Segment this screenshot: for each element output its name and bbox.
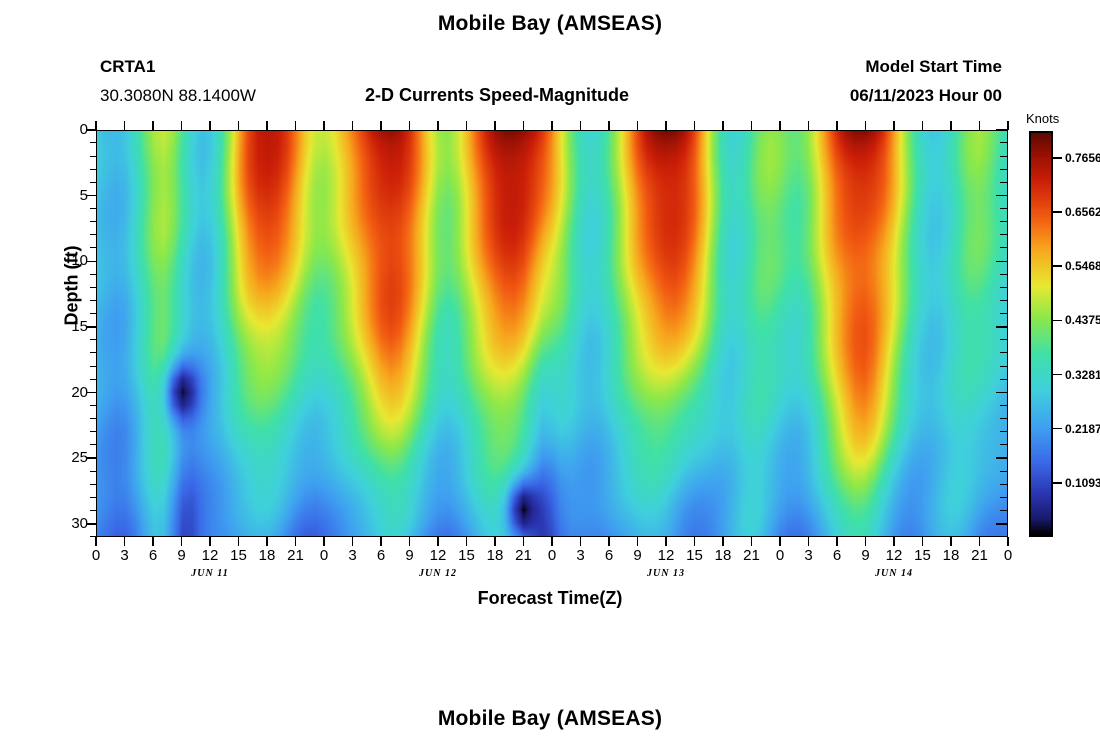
colorbar-tick bbox=[1053, 211, 1062, 213]
y-tick-right-minor bbox=[1000, 156, 1008, 157]
y-tick-right-minor bbox=[1000, 274, 1008, 275]
y-tick-right-minor bbox=[1000, 234, 1008, 235]
x-tick-top bbox=[922, 121, 924, 130]
x-tick-top bbox=[152, 121, 154, 130]
y-tick-right-major bbox=[996, 261, 1008, 263]
x-tick bbox=[922, 537, 924, 546]
y-tick-right-major bbox=[996, 129, 1008, 131]
x-tick-top bbox=[637, 121, 639, 130]
x-tick bbox=[323, 537, 325, 546]
y-tick-label: 10 bbox=[48, 253, 88, 268]
x-tick bbox=[808, 537, 810, 546]
x-tick-top bbox=[352, 121, 354, 130]
y-axis-title: Depth (ft) bbox=[62, 206, 83, 366]
x-tick-top bbox=[380, 121, 382, 130]
y-tick-right-minor bbox=[1000, 418, 1008, 419]
x-tick-label: 3 bbox=[794, 548, 824, 563]
x-tick bbox=[665, 537, 667, 546]
x-tick bbox=[494, 537, 496, 546]
x-tick bbox=[1007, 537, 1009, 546]
y-tick-right-major bbox=[996, 392, 1008, 394]
x-tick-top bbox=[722, 121, 724, 130]
x-tick bbox=[295, 537, 297, 546]
x-tick-top bbox=[95, 121, 97, 130]
y-tick-minor bbox=[90, 300, 96, 301]
x-tick-label: 12 bbox=[651, 548, 681, 563]
colorbar-tick-label: 0.1093750 bbox=[1065, 477, 1100, 489]
x-tick-label: 9 bbox=[623, 548, 653, 563]
x-tick-top bbox=[1007, 121, 1009, 130]
x-tick bbox=[266, 537, 268, 546]
x-axis-title: Forecast Time(Z) bbox=[0, 588, 1100, 609]
x-tick-label: 18 bbox=[936, 548, 966, 563]
x-tick bbox=[380, 537, 382, 546]
y-tick-right-minor bbox=[1000, 313, 1008, 314]
x-tick bbox=[523, 537, 525, 546]
x-tick-label: 18 bbox=[480, 548, 510, 563]
y-tick-right-minor bbox=[1000, 247, 1008, 248]
colorbar-tick-label: 0.4375000 bbox=[1065, 314, 1100, 326]
x-tick-top bbox=[266, 121, 268, 130]
colorbar-tick bbox=[1053, 482, 1062, 484]
x-tick-top bbox=[836, 121, 838, 130]
x-tick-label: 12 bbox=[195, 548, 225, 563]
x-tick bbox=[181, 537, 183, 546]
y-tick-minor bbox=[90, 208, 96, 209]
x-tick-top bbox=[779, 121, 781, 130]
y-tick-right-minor bbox=[1000, 510, 1008, 511]
y-tick-right-minor bbox=[1000, 208, 1008, 209]
x-tick-top bbox=[124, 121, 126, 130]
y-tick-right-minor bbox=[1000, 221, 1008, 222]
x-tick-top bbox=[865, 121, 867, 130]
x-tick-top bbox=[694, 121, 696, 130]
x-tick-label: 3 bbox=[566, 548, 596, 563]
x-tick bbox=[95, 537, 97, 546]
x-tick-top bbox=[323, 121, 325, 130]
y-tick-minor bbox=[90, 169, 96, 170]
y-tick-label: 20 bbox=[48, 385, 88, 400]
y-tick-minor bbox=[90, 431, 96, 432]
x-tick bbox=[152, 537, 154, 546]
x-tick-top bbox=[295, 121, 297, 130]
x-tick bbox=[608, 537, 610, 546]
x-tick-label: 9 bbox=[167, 548, 197, 563]
x-tick-label: 9 bbox=[395, 548, 425, 563]
x-tick-top bbox=[665, 121, 667, 130]
y-tick-right-minor bbox=[1000, 497, 1008, 498]
x-tick-top bbox=[466, 121, 468, 130]
colorbar-tick bbox=[1053, 320, 1062, 322]
colorbar bbox=[1029, 131, 1053, 537]
y-tick-minor bbox=[90, 418, 96, 419]
y-tick-minor bbox=[90, 352, 96, 353]
x-tick-label: 12 bbox=[879, 548, 909, 563]
x-tick-label: 0 bbox=[81, 548, 111, 563]
x-tick-label: 6 bbox=[594, 548, 624, 563]
y-tick-minor bbox=[90, 366, 96, 367]
y-tick-right-major bbox=[996, 326, 1008, 328]
x-tick-label: 3 bbox=[110, 548, 140, 563]
x-tick bbox=[437, 537, 439, 546]
x-tick-label: 0 bbox=[537, 548, 567, 563]
x-tick-top bbox=[409, 121, 411, 130]
x-tick bbox=[637, 537, 639, 546]
x-day-label: JUN 11 bbox=[170, 568, 250, 579]
x-tick-label: 15 bbox=[680, 548, 710, 563]
y-tick-minor bbox=[90, 156, 96, 157]
y-tick-label: 0 bbox=[48, 122, 88, 137]
station-id: CRTA1 bbox=[100, 57, 155, 77]
y-tick-right-minor bbox=[1000, 182, 1008, 183]
y-tick-minor bbox=[90, 313, 96, 314]
y-tick-right-minor bbox=[1000, 366, 1008, 367]
x-tick bbox=[409, 537, 411, 546]
y-tick-right-minor bbox=[1000, 339, 1008, 340]
colorbar-tick bbox=[1053, 428, 1062, 430]
chart-page: Mobile Bay (AMSEAS) CRTA1 30.3080N 88.14… bbox=[0, 0, 1100, 750]
x-tick-label: 9 bbox=[851, 548, 881, 563]
x-tick bbox=[751, 537, 753, 546]
chart-subtitle: 2-D Currents Speed-Magnitude bbox=[365, 85, 629, 106]
x-tick bbox=[124, 537, 126, 546]
x-tick-label: 21 bbox=[281, 548, 311, 563]
station-coordinates: 30.3080N 88.1400W bbox=[100, 86, 256, 106]
y-tick-minor bbox=[90, 379, 96, 380]
y-tick-right-minor bbox=[1000, 484, 1008, 485]
x-tick-label: 21 bbox=[965, 548, 995, 563]
x-tick bbox=[466, 537, 468, 546]
y-tick-minor bbox=[90, 497, 96, 498]
x-tick-label: 12 bbox=[423, 548, 453, 563]
x-tick-top bbox=[608, 121, 610, 130]
y-tick-right-minor bbox=[1000, 169, 1008, 170]
heatmap-plot-area bbox=[96, 130, 1008, 537]
y-tick-minor bbox=[90, 484, 96, 485]
x-tick bbox=[694, 537, 696, 546]
x-tick-label: 3 bbox=[338, 548, 368, 563]
y-tick-label: 25 bbox=[48, 450, 88, 465]
page-title: Mobile Bay (AMSEAS) bbox=[0, 12, 1100, 36]
y-tick-right-minor bbox=[1000, 431, 1008, 432]
x-tick-top bbox=[551, 121, 553, 130]
x-tick bbox=[352, 537, 354, 546]
x-tick bbox=[893, 537, 895, 546]
y-tick-minor bbox=[90, 405, 96, 406]
y-tick-right-minor bbox=[1000, 287, 1008, 288]
x-tick-top bbox=[437, 121, 439, 130]
x-tick bbox=[209, 537, 211, 546]
x-tick-label: 0 bbox=[765, 548, 795, 563]
x-tick-top bbox=[494, 121, 496, 130]
x-tick-top bbox=[751, 121, 753, 130]
y-tick-right-major bbox=[996, 457, 1008, 459]
colorbar-tick bbox=[1053, 157, 1062, 159]
y-tick-label: 30 bbox=[48, 516, 88, 531]
y-tick-right-minor bbox=[1000, 142, 1008, 143]
x-tick-top bbox=[209, 121, 211, 130]
y-tick-minor bbox=[90, 471, 96, 472]
x-tick-label: 18 bbox=[708, 548, 738, 563]
y-tick-right-minor bbox=[1000, 405, 1008, 406]
x-tick-top bbox=[808, 121, 810, 130]
heatmap-canvas bbox=[97, 131, 1007, 536]
x-tick bbox=[779, 537, 781, 546]
y-tick-minor bbox=[90, 339, 96, 340]
y-tick-minor bbox=[90, 142, 96, 143]
next-panel-title: Mobile Bay (AMSEAS) bbox=[0, 707, 1100, 731]
x-tick-top bbox=[979, 121, 981, 130]
colorbar-tick bbox=[1053, 374, 1062, 376]
x-tick bbox=[950, 537, 952, 546]
x-tick-label: 6 bbox=[822, 548, 852, 563]
x-tick-label: 15 bbox=[452, 548, 482, 563]
y-tick-right-minor bbox=[1000, 471, 1008, 472]
x-tick-top bbox=[580, 121, 582, 130]
colorbar-tick bbox=[1053, 265, 1062, 267]
colorbar-tick-label: 0.5468750 bbox=[1065, 260, 1100, 272]
x-tick-label: 15 bbox=[908, 548, 938, 563]
x-tick bbox=[836, 537, 838, 546]
x-tick-top bbox=[238, 121, 240, 130]
y-tick-right-minor bbox=[1000, 300, 1008, 301]
colorbar-title: Knots bbox=[1026, 111, 1059, 126]
x-day-label: JUN 13 bbox=[626, 568, 706, 579]
colorbar-tick-label: 0.7656250 bbox=[1065, 152, 1100, 164]
model-start-time-value: 06/11/2023 Hour 00 bbox=[850, 86, 1002, 106]
x-tick-label: 6 bbox=[366, 548, 396, 563]
x-tick-label: 21 bbox=[737, 548, 767, 563]
x-tick bbox=[238, 537, 240, 546]
y-tick-right-minor bbox=[1000, 444, 1008, 445]
y-tick-label: 15 bbox=[48, 319, 88, 334]
model-start-time-label: Model Start Time bbox=[865, 57, 1002, 77]
x-tick bbox=[865, 537, 867, 546]
y-tick-label: 5 bbox=[48, 188, 88, 203]
y-tick-minor bbox=[90, 444, 96, 445]
x-tick-top bbox=[523, 121, 525, 130]
x-tick-label: 0 bbox=[993, 548, 1023, 563]
x-day-label: JUN 14 bbox=[854, 568, 934, 579]
x-tick-label: 15 bbox=[224, 548, 254, 563]
x-tick-label: 18 bbox=[252, 548, 282, 563]
y-tick-minor bbox=[90, 510, 96, 511]
x-tick bbox=[551, 537, 553, 546]
colorbar-tick-label: 0.6562500 bbox=[1065, 206, 1100, 218]
x-tick bbox=[580, 537, 582, 546]
x-tick-label: 0 bbox=[309, 548, 339, 563]
x-tick-label: 21 bbox=[509, 548, 539, 563]
y-tick-minor bbox=[90, 274, 96, 275]
y-tick-minor bbox=[90, 182, 96, 183]
y-tick-minor bbox=[90, 221, 96, 222]
y-tick-minor bbox=[90, 247, 96, 248]
y-tick-right-major bbox=[996, 195, 1008, 197]
x-tick-top bbox=[950, 121, 952, 130]
x-tick bbox=[722, 537, 724, 546]
x-tick-top bbox=[181, 121, 183, 130]
x-tick bbox=[979, 537, 981, 546]
colorbar-tick-label: 0.3281250 bbox=[1065, 369, 1100, 381]
colorbar-tick-label: 0.2187500 bbox=[1065, 423, 1100, 435]
x-tick-label: 6 bbox=[138, 548, 168, 563]
y-tick-minor bbox=[90, 234, 96, 235]
y-tick-minor bbox=[90, 287, 96, 288]
colorbar-canvas bbox=[1031, 133, 1051, 535]
y-tick-right-minor bbox=[1000, 379, 1008, 380]
y-tick-right-minor bbox=[1000, 352, 1008, 353]
x-day-label: JUN 12 bbox=[398, 568, 478, 579]
y-tick-right-major bbox=[996, 523, 1008, 525]
x-tick-top bbox=[893, 121, 895, 130]
